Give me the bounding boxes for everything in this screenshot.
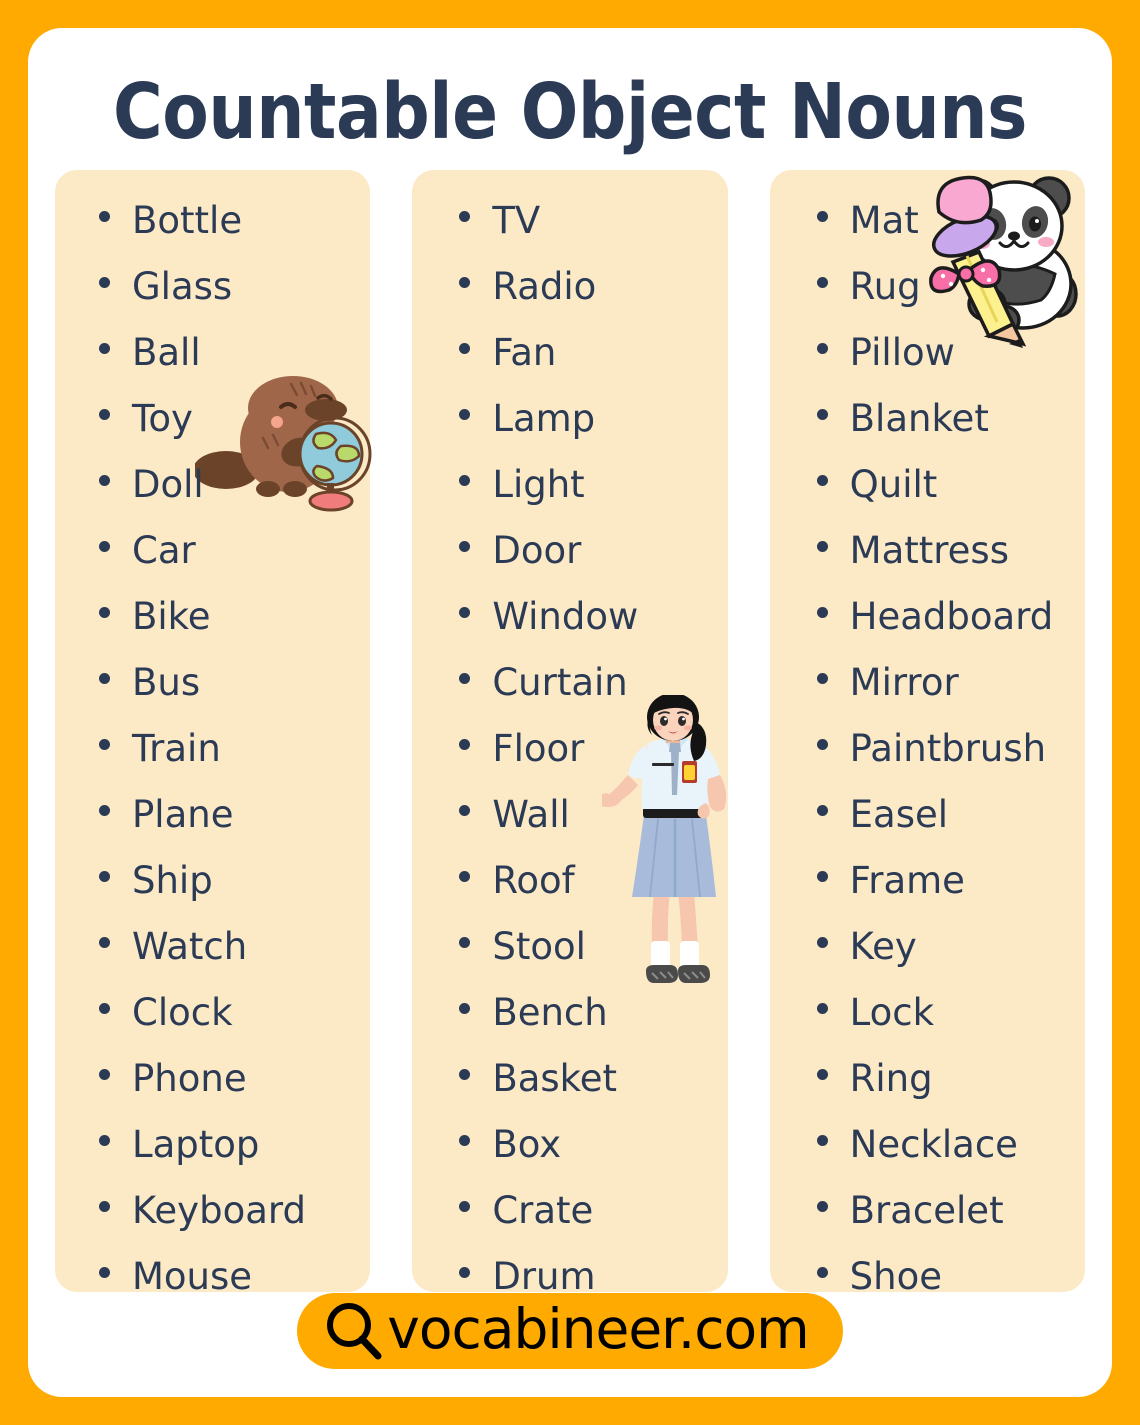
bullet-icon <box>459 871 470 882</box>
bullet-icon <box>99 277 110 288</box>
noun-label: Stool <box>492 914 586 980</box>
noun-label: Mattress <box>850 518 1009 584</box>
bullet-icon <box>459 607 470 618</box>
bullet-icon <box>99 343 110 354</box>
noun-label: Basket <box>492 1046 617 1112</box>
list-item: Mouse <box>55 1244 370 1310</box>
bullet-icon <box>459 409 470 420</box>
list-item: Clock <box>55 980 370 1046</box>
noun-label: Mouse <box>132 1244 252 1310</box>
list-item: Pillow <box>770 320 1085 386</box>
bullet-icon <box>459 1135 470 1146</box>
list-item: Glass <box>55 254 370 320</box>
noun-label: Crate <box>492 1178 593 1244</box>
noun-label: Frame <box>850 848 965 914</box>
noun-label: Bracelet <box>850 1178 1004 1244</box>
bullet-icon <box>99 607 110 618</box>
list-item: Car <box>55 518 370 584</box>
bullet-icon <box>459 343 470 354</box>
bullet-icon <box>99 937 110 948</box>
list-item: Ring <box>770 1046 1085 1112</box>
list-item: Bus <box>55 650 370 716</box>
list-item: Ball <box>55 320 370 386</box>
list-item: Shoe <box>770 1244 1085 1310</box>
noun-label: Bottle <box>132 188 242 254</box>
noun-label: Lock <box>850 980 934 1046</box>
list-item: Paintbrush <box>770 716 1085 782</box>
list-item: Key <box>770 914 1085 980</box>
list-item: Basket <box>412 1046 727 1112</box>
noun-label: Necklace <box>850 1112 1018 1178</box>
noun-label: Door <box>492 518 581 584</box>
noun-label: Roof <box>492 848 574 914</box>
list-item: Watch <box>55 914 370 980</box>
list-item: Crate <box>412 1178 727 1244</box>
bullet-icon <box>817 871 828 882</box>
list-item: Rug <box>770 254 1085 320</box>
noun-label: Ship <box>132 848 213 914</box>
noun-label: Headboard <box>850 584 1054 650</box>
bullet-icon <box>99 805 110 816</box>
bullet-icon <box>99 1135 110 1146</box>
list-item: Bench <box>412 980 727 1046</box>
bullet-icon <box>817 1135 828 1146</box>
bullet-icon <box>817 211 828 222</box>
noun-label: Ring <box>850 1046 933 1112</box>
bullet-icon <box>459 1003 470 1014</box>
bullet-icon <box>99 475 110 486</box>
bullet-icon <box>817 1003 828 1014</box>
bullet-icon <box>817 1069 828 1080</box>
bullet-icon <box>459 211 470 222</box>
list-item: Mirror <box>770 650 1085 716</box>
list-item: Plane <box>55 782 370 848</box>
bullet-icon <box>817 739 828 750</box>
bullet-icon <box>99 1201 110 1212</box>
list-item: Radio <box>412 254 727 320</box>
bullet-icon <box>459 1069 470 1080</box>
noun-label: Window <box>492 584 638 650</box>
list-item: Phone <box>55 1046 370 1112</box>
noun-label: Wall <box>492 782 569 848</box>
list-item: Floor <box>412 716 727 782</box>
noun-label: Quilt <box>850 452 938 518</box>
list-item: Mattress <box>770 518 1085 584</box>
noun-label: Glass <box>132 254 232 320</box>
bullet-icon <box>99 409 110 420</box>
list-item: Laptop <box>55 1112 370 1178</box>
list-item: Blanket <box>770 386 1085 452</box>
noun-label: Watch <box>132 914 247 980</box>
noun-label: Mirror <box>850 650 959 716</box>
list-item: Door <box>412 518 727 584</box>
noun-label: Lamp <box>492 386 595 452</box>
list-item: Bracelet <box>770 1178 1085 1244</box>
list-item: Fan <box>412 320 727 386</box>
noun-label: Fan <box>492 320 556 386</box>
bullet-icon <box>817 277 828 288</box>
bullet-icon <box>459 475 470 486</box>
bullet-icon <box>817 607 828 618</box>
noun-label: Pillow <box>850 320 955 386</box>
noun-label: Box <box>492 1112 561 1178</box>
bullet-icon <box>817 673 828 684</box>
noun-column-1: Bottle Glass Ball Toy Doll Car Bike Bus … <box>55 170 370 1292</box>
list-item: Necklace <box>770 1112 1085 1178</box>
list-item: Box <box>412 1112 727 1178</box>
noun-label: Light <box>492 452 584 518</box>
noun-label: Blanket <box>850 386 989 452</box>
poster-card: Countable Object Nouns <box>28 28 1112 1397</box>
list-item: Wall <box>412 782 727 848</box>
noun-label: Radio <box>492 254 596 320</box>
noun-label: Plane <box>132 782 233 848</box>
bullet-icon <box>459 673 470 684</box>
bullet-icon <box>817 541 828 552</box>
bullet-icon <box>817 937 828 948</box>
list-item: Bottle <box>55 188 370 254</box>
noun-label: Bench <box>492 980 607 1046</box>
page-title: Countable Object Nouns <box>93 74 1047 151</box>
bullet-icon <box>817 409 828 420</box>
noun-label: Floor <box>492 716 584 782</box>
noun-label: TV <box>492 188 540 254</box>
bullet-icon <box>99 541 110 552</box>
list-item: Window <box>412 584 727 650</box>
list-item: Doll <box>55 452 370 518</box>
noun-label: Keyboard <box>132 1178 306 1244</box>
list-item: Toy <box>55 386 370 452</box>
bullet-icon <box>817 475 828 486</box>
bullet-icon <box>817 1267 828 1278</box>
noun-label: Doll <box>132 452 204 518</box>
bullet-icon <box>99 871 110 882</box>
noun-label: Bus <box>132 650 200 716</box>
list-item: Lamp <box>412 386 727 452</box>
bullet-icon <box>817 343 828 354</box>
noun-list-3: Mat Rug Pillow Blanket Quilt Mattress He… <box>770 188 1085 1310</box>
noun-label: Paintbrush <box>850 716 1046 782</box>
bullet-icon <box>99 1267 110 1278</box>
noun-list-1: Bottle Glass Ball Toy Doll Car Bike Bus … <box>55 188 370 1310</box>
bullet-icon <box>99 739 110 750</box>
noun-columns: Bottle Glass Ball Toy Doll Car Bike Bus … <box>55 170 1085 1292</box>
list-item: Stool <box>412 914 727 980</box>
noun-column-3: Mat Rug Pillow Blanket Quilt Mattress He… <box>770 170 1085 1292</box>
noun-label: Rug <box>850 254 921 320</box>
bullet-icon <box>817 805 828 816</box>
bullet-icon <box>99 211 110 222</box>
bullet-icon <box>817 1201 828 1212</box>
noun-label: Ball <box>132 320 201 386</box>
bullet-icon <box>459 1267 470 1278</box>
bullet-icon <box>459 541 470 552</box>
list-item: Bike <box>55 584 370 650</box>
list-item: Roof <box>412 848 727 914</box>
noun-label: Train <box>132 716 221 782</box>
list-item: Light <box>412 452 727 518</box>
list-item: Frame <box>770 848 1085 914</box>
bullet-icon <box>459 937 470 948</box>
noun-label: Laptop <box>132 1112 259 1178</box>
list-item: Headboard <box>770 584 1085 650</box>
list-item: Keyboard <box>55 1178 370 1244</box>
bullet-icon <box>99 673 110 684</box>
noun-list-2: TV Radio Fan Lamp Light Door Window Curt… <box>412 188 727 1310</box>
noun-label: Easel <box>850 782 948 848</box>
bullet-icon <box>459 805 470 816</box>
noun-label: Phone <box>132 1046 247 1112</box>
noun-label: Bike <box>132 584 211 650</box>
list-item: Quilt <box>770 452 1085 518</box>
bullet-icon <box>99 1069 110 1080</box>
list-item: Drum <box>412 1244 727 1310</box>
bullet-icon <box>459 1201 470 1212</box>
list-item: Easel <box>770 782 1085 848</box>
noun-label: Shoe <box>850 1244 942 1310</box>
noun-label: Clock <box>132 980 233 1046</box>
list-item: Ship <box>55 848 370 914</box>
bullet-icon <box>99 1003 110 1014</box>
noun-label: Car <box>132 518 196 584</box>
noun-label: Toy <box>132 386 193 452</box>
list-item: Lock <box>770 980 1085 1046</box>
noun-label: Curtain <box>492 650 627 716</box>
list-item: Train <box>55 716 370 782</box>
noun-label: Key <box>850 914 917 980</box>
noun-label: Drum <box>492 1244 595 1310</box>
list-item: Curtain <box>412 650 727 716</box>
list-item: Mat <box>770 188 1085 254</box>
list-item: TV <box>412 188 727 254</box>
bullet-icon <box>459 739 470 750</box>
noun-label: Mat <box>850 188 919 254</box>
bullet-icon <box>459 277 470 288</box>
noun-column-2: TV Radio Fan Lamp Light Door Window Curt… <box>412 170 727 1292</box>
